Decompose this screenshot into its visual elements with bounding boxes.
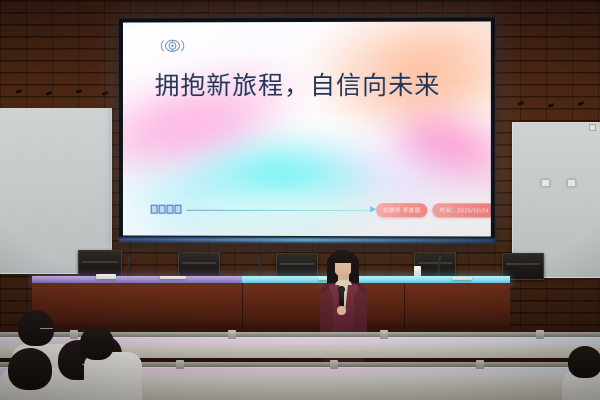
eyeglasses-icon bbox=[40, 328, 53, 331]
slide-content: 拥抱新旅程，自信向未来 刘静婷 李美霞 时间：2025/10/24 bbox=[123, 21, 491, 236]
date-badge: 时间：2025/10/24 bbox=[432, 203, 490, 217]
desk-seam bbox=[242, 283, 243, 329]
auditorium-photo: 拥抱新旅程，自信向未来 刘静婷 李美霞 时间：2025/10/24 bbox=[0, 0, 600, 400]
audience-member-head bbox=[568, 346, 600, 378]
audience-member-head bbox=[80, 326, 114, 360]
name-card[interactable] bbox=[160, 276, 186, 279]
rail-clip bbox=[476, 360, 484, 369]
wall-switch-plate[interactable] bbox=[567, 179, 576, 187]
presenter-hand bbox=[337, 306, 346, 315]
wall-speaker-nub bbox=[589, 124, 596, 131]
missing-glyph-box bbox=[167, 205, 174, 214]
desk-microphone-head bbox=[258, 253, 262, 257]
eye-target-logo-icon bbox=[161, 37, 185, 53]
slide-title: 拥抱新旅程，自信向未来 bbox=[155, 74, 441, 99]
presenters-badge: 刘静婷 李美霞 bbox=[376, 203, 428, 217]
rail-clip bbox=[380, 330, 388, 339]
rail-clip bbox=[70, 330, 78, 339]
desk-front-panel bbox=[32, 283, 510, 329]
rail-clip bbox=[228, 330, 236, 339]
wall-switch-plate[interactable] bbox=[541, 179, 550, 187]
rail-clip bbox=[536, 330, 544, 339]
desk-seam bbox=[404, 283, 405, 329]
rail-clip bbox=[176, 360, 184, 369]
led-display-screen[interactable]: 拥抱新旅程，自信向未来 刘静婷 李美霞 时间：2025/10/24 bbox=[119, 17, 495, 242]
slide-footer: 刘静婷 李美霞 时间：2025/10/24 bbox=[123, 204, 491, 221]
audience-member-head bbox=[8, 348, 52, 390]
missing-glyph-box bbox=[175, 205, 182, 214]
desk-microphone-head bbox=[438, 252, 442, 256]
desk-microphone-head bbox=[127, 253, 131, 257]
rail-clip bbox=[330, 360, 338, 369]
arrow-line-icon bbox=[186, 210, 374, 211]
paper-document[interactable] bbox=[96, 274, 116, 279]
screen-content-area: 拥抱新旅程，自信向未来 刘静婷 李美霞 时间：2025/10/24 bbox=[123, 21, 491, 236]
name-card[interactable] bbox=[452, 277, 472, 280]
slide-footer-label bbox=[151, 205, 182, 214]
missing-glyph-box bbox=[159, 205, 166, 214]
missing-glyph-box bbox=[151, 205, 158, 214]
